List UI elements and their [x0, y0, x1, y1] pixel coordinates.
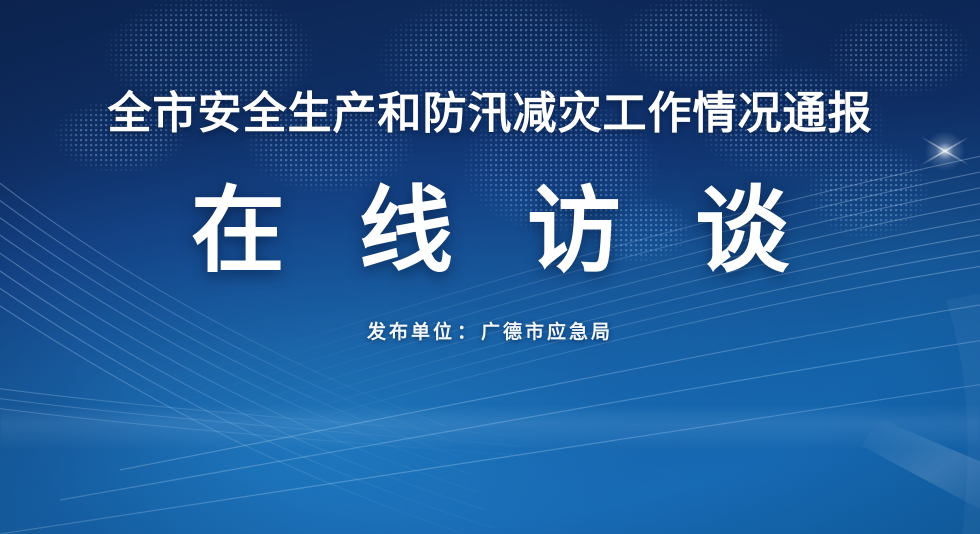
poster-headline: 在 线 访 谈 [0, 176, 980, 286]
poster-subject-title: 全市安全生产和防汛减灾工作情况通报 [0, 88, 980, 140]
poster-content: 全市安全生产和防汛减灾工作情况通报 在 线 访 谈 发布单位：广德市应急局 [0, 0, 980, 534]
publisher-label: 发布单位 [367, 322, 455, 343]
publisher-separator: ： [455, 322, 481, 343]
publisher-name: 广德市应急局 [481, 322, 613, 343]
publisher-line: 发布单位：广德市应急局 [0, 320, 980, 346]
online-interview-banner: 全市安全生产和防汛减灾工作情况通报 在 线 访 谈 发布单位：广德市应急局 [0, 0, 980, 534]
